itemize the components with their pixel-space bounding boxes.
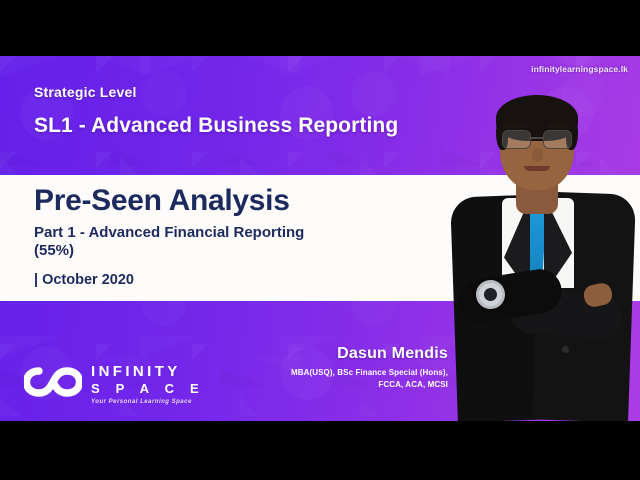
mouth bbox=[524, 166, 550, 171]
eyebrow-right bbox=[546, 124, 570, 128]
slide-header-block: Strategic Level SL1 - Advanced Business … bbox=[34, 84, 398, 138]
nose bbox=[532, 148, 543, 162]
title-block: Pre-Seen Analysis Part 1 - Advanced Fina… bbox=[34, 185, 324, 288]
slide-canvas: infinitylearningspace.lk Strategic Level… bbox=[0, 56, 640, 421]
video-slide-frame: infinitylearningspace.lk Strategic Level… bbox=[0, 0, 640, 480]
eyeglasses-bridge bbox=[529, 137, 543, 139]
presenter-credentials-line-1: MBA(USQ), BSc Finance Special (Hons), bbox=[291, 368, 448, 377]
course-title: SL1 - Advanced Business Reporting bbox=[34, 114, 398, 138]
site-url-watermark: infinitylearningspace.lk bbox=[531, 64, 628, 74]
page-title: Pre-Seen Analysis bbox=[34, 185, 324, 217]
level-label: Strategic Level bbox=[34, 84, 398, 100]
presenter-photo bbox=[432, 78, 640, 421]
brand-name-line-1: INFINITY bbox=[91, 364, 205, 379]
eyeglasses-lens-left bbox=[502, 130, 531, 149]
letterbox-bar-top bbox=[0, 0, 640, 56]
presenter-info-block: Dasun Mendis MBA(USQ), BSc Finance Speci… bbox=[291, 345, 448, 389]
presenter-credentials-line-2: FCCA, ACA, MCSI bbox=[291, 380, 448, 389]
brand-tagline: Your Personal Learning Space bbox=[91, 399, 205, 405]
presenter-name: Dasun Mendis bbox=[291, 345, 448, 363]
eyeglasses-lens-right bbox=[543, 130, 572, 149]
page-subtitle: Part 1 - Advanced Financial Reporting (5… bbox=[34, 224, 324, 259]
brand-text-block: INFINITY S P A C E Your Personal Learnin… bbox=[91, 364, 205, 405]
wristwatch-face bbox=[483, 287, 498, 302]
brand-name-line-2: S P A C E bbox=[91, 382, 205, 395]
letterbox-bar-bottom bbox=[0, 421, 640, 480]
eyebrow-left bbox=[503, 124, 527, 128]
brand-logo: INFINITY S P A C E Your Personal Learnin… bbox=[24, 364, 205, 405]
infinity-icon bbox=[24, 367, 82, 402]
date-label: | October 2020 bbox=[34, 272, 324, 288]
jacket-button bbox=[562, 346, 569, 353]
